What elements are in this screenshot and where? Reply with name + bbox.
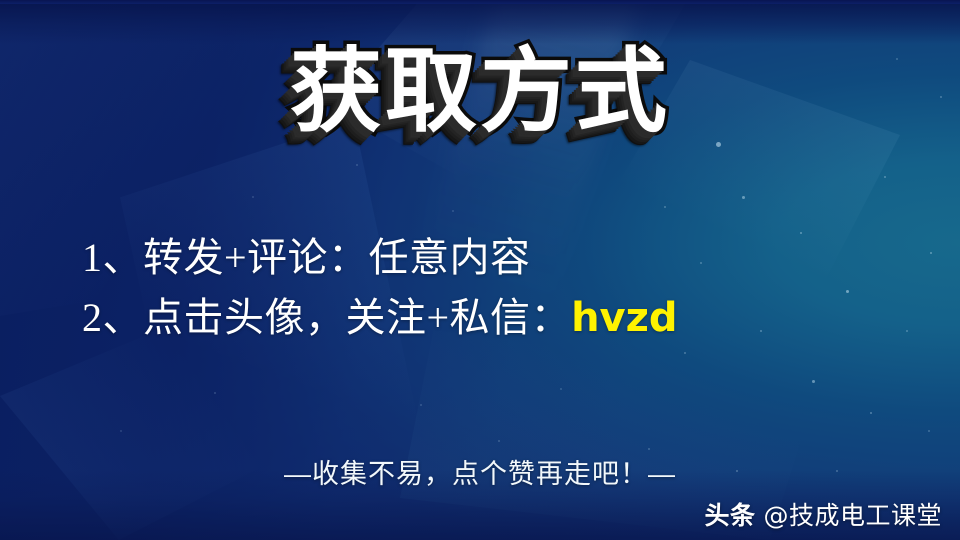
page-title: 获取方式: [290, 42, 670, 141]
step-2-keyword: hvzd: [571, 295, 677, 341]
list-item-step-1: 1、转发+评论：任意内容: [82, 228, 882, 288]
list-item-step-2: 2、点击头像，关注+私信：hvzd: [82, 288, 882, 348]
step-2-text: 点击头像，关注+私信：: [143, 295, 571, 340]
step-1-index: 1、: [82, 235, 143, 280]
step-1-text: 转发+评论：任意内容: [143, 235, 531, 280]
watermark-handle: @技成电工课堂: [763, 496, 942, 532]
slide-canvas: 获取方式 1、转发+评论：任意内容 2、点击头像，关注+私信：hvzd —收集不…: [0, 0, 960, 540]
background-top-edge-line: [0, 0, 960, 4]
step-2-index: 2、: [82, 295, 143, 340]
steps-list: 1、转发+评论：任意内容 2、点击头像，关注+私信：hvzd: [82, 228, 882, 348]
footer-note: —收集不易，点个赞再走吧！—: [0, 452, 960, 491]
watermark-brand: 头条: [704, 496, 755, 532]
page-title-container: 获取方式: [0, 42, 960, 141]
watermark: 头条 @技成电工课堂: [704, 496, 942, 532]
